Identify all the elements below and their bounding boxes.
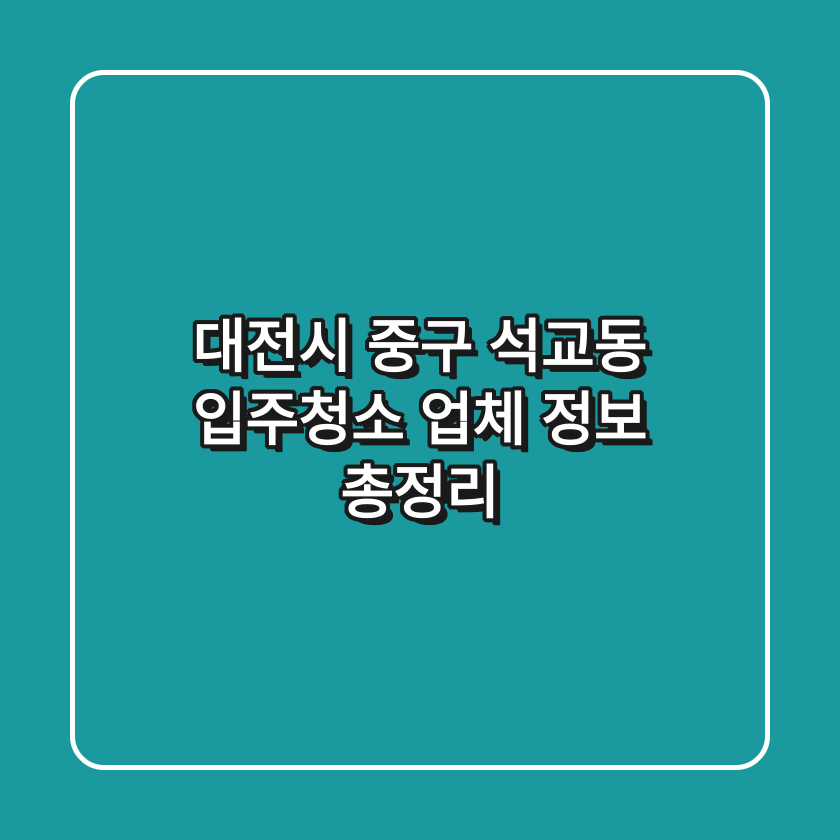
thumbnail-card: 대전시 중구 석교동 입주청소 업체 정보 총정리 [0,0,840,840]
title-line-2: 입주청소 업체 정보 [193,383,647,456]
page-title: 대전시 중구 석교동 입주청소 업체 정보 총정리 [193,310,647,529]
title-line-1: 대전시 중구 석교동 [193,310,647,383]
title-line-3: 총정리 [193,457,647,530]
headline-block: 대전시 중구 석교동 입주청소 업체 정보 총정리 [0,310,840,529]
